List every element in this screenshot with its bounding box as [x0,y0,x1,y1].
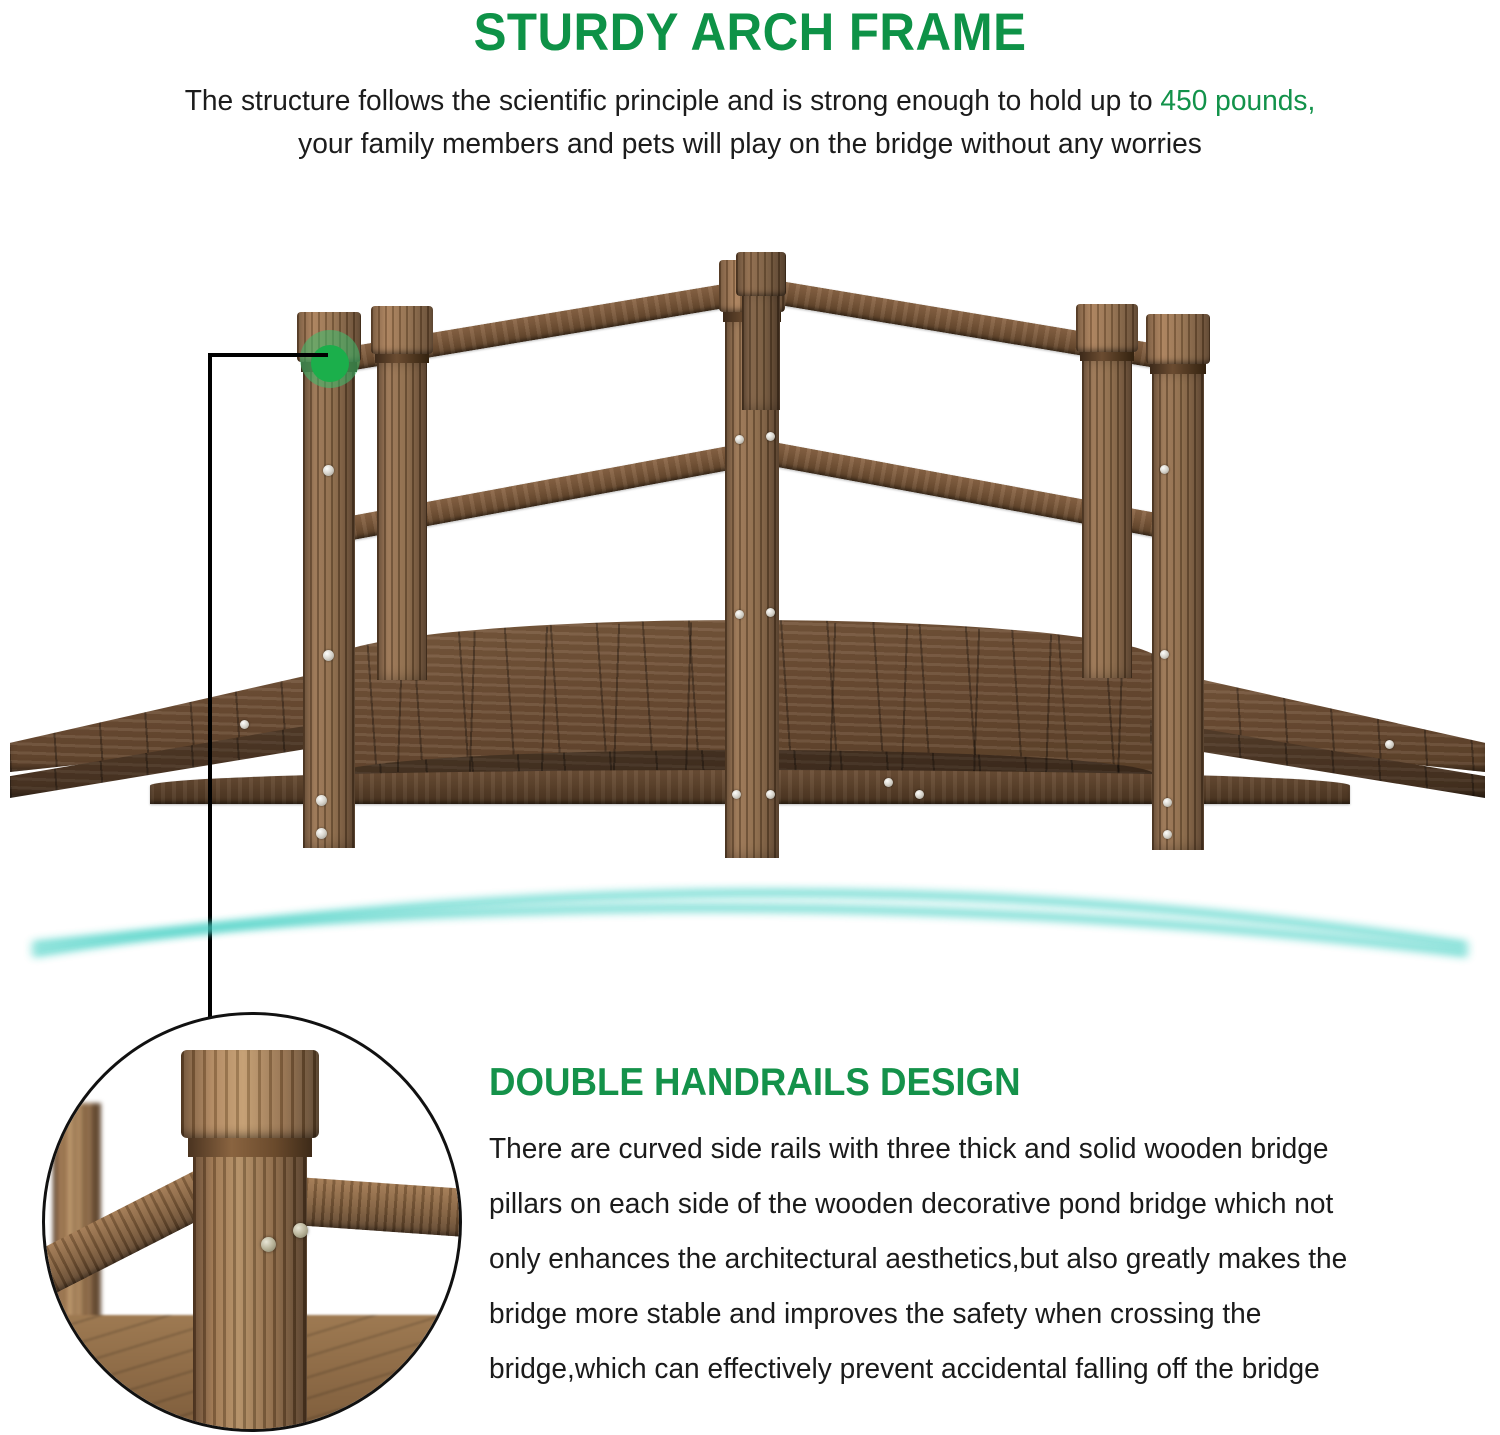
feature-section: DOUBLE HANDRAILS DESIGN There are curved… [489,1058,1444,1397]
feature-body-line: There are curved side rails with three t… [489,1122,1430,1177]
screw [240,720,249,729]
screw [316,828,327,839]
inset-post [193,1143,307,1432]
post-center-rear-cap [736,252,786,296]
post-right-mid [1082,358,1132,678]
feature-body-line: bridge,which can effectively prevent acc… [489,1342,1430,1397]
feature-title: DOUBLE HANDRAILS DESIGN [489,1058,1387,1108]
decorative-arcs [0,845,1500,970]
post-left-mid-cap [371,306,433,354]
screw [732,790,741,799]
post-right-outer [1152,370,1204,850]
feature-body-line: only enhances the architectural aestheti… [489,1232,1430,1287]
callout-leader-horizontal [208,353,328,357]
screw [1160,465,1169,474]
header: STURDY ARCH FRAME The structure follows … [0,0,1500,166]
inset-rail-right [293,1177,462,1239]
screw [915,790,924,799]
feature-body-line: pillars on each side of the wooden decor… [489,1177,1430,1232]
post-left-outer [303,368,355,848]
screw [323,650,334,661]
screw [884,778,893,787]
screw [1385,740,1394,749]
screw [316,795,327,806]
screw [735,435,744,444]
post-center-rear [742,290,780,410]
screw [735,610,744,619]
screw [766,790,775,799]
feature-body: There are curved side rails with three t… [489,1122,1430,1397]
post-right-outer-cap [1146,314,1210,364]
subtitle-line1-text: The structure follows the scientific pri… [185,85,1161,117]
feature-body-line: bridge more stable and improves the safe… [489,1287,1430,1342]
inset-screw [261,1237,276,1252]
screw [1163,830,1172,839]
screw [1160,650,1169,659]
subtitle-highlight: 450 pounds, [1160,85,1315,117]
page-title: STURDY ARCH FRAME [53,2,1448,64]
detail-inset-circle [42,1012,462,1432]
screw [766,608,775,617]
subtitle-line2: your family members and pets will play o… [298,128,1202,160]
screw [1163,798,1172,807]
screw [766,432,775,441]
product-photo [0,250,1500,880]
post-right-mid-cap [1076,304,1138,352]
inset-post-cap [181,1050,319,1138]
callout-dot[interactable] [311,345,349,382]
inset-screw [293,1223,308,1238]
screw [323,465,334,476]
post-left-mid [377,360,427,680]
subtitle: The structure follows the scientific pri… [23,80,1478,166]
